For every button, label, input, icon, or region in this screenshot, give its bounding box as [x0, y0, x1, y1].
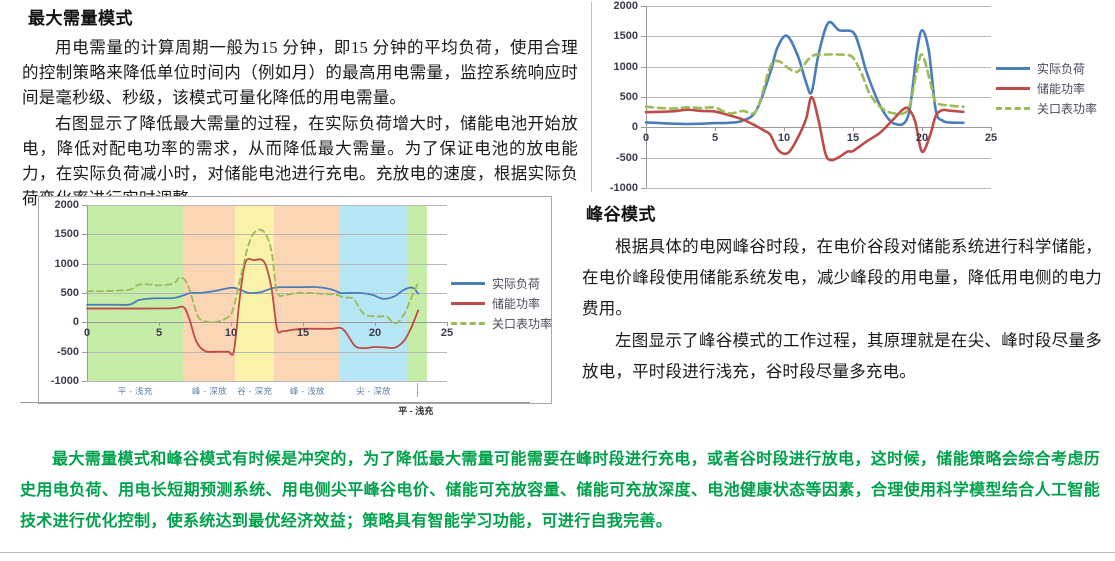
x-axis-tick-label: 20 [360, 327, 390, 339]
x-tick-mark [87, 322, 88, 326]
peak-valley-plot-area [87, 205, 447, 381]
y-tick-mark [82, 205, 87, 206]
legend-item-1: 储能功率 [996, 78, 1097, 98]
y-axis-tick-label: -1000 [590, 182, 638, 194]
y-axis-tick-label: 1500 [590, 30, 638, 42]
legend-swatch-dashed-icon [996, 107, 1030, 110]
y-tick-mark [82, 234, 87, 235]
peak-valley-section: 峰谷模式 根据具体的电网峰谷时段，在电价谷段对储能系统进行科学储能，在电价峰段使… [582, 200, 1102, 388]
y-tick-mark [641, 67, 646, 68]
page-bottom-rule [0, 552, 1115, 553]
legend-item-0: 实际负荷 [996, 58, 1097, 78]
band-label-3: 峰 - 浅放 [290, 385, 325, 397]
x-axis-tick-label: 5 [700, 132, 730, 144]
legend-label: 储能功率 [1037, 80, 1085, 97]
x-axis-tick-label: 10 [216, 327, 246, 339]
y-axis-tick-label: 2000 [31, 199, 79, 211]
x-tick-mark [159, 322, 160, 326]
y-tick-mark [82, 352, 87, 353]
y-axis-tick-label: -1000 [31, 375, 79, 387]
legend-label: 实际负荷 [1037, 60, 1085, 77]
y-axis-tick-label: 2000 [590, 0, 638, 12]
legend-item-0: 实际负荷 [451, 273, 552, 293]
max-demand-chart: 实际负荷储能功率关口表功率 2000150010005000-500-10000… [583, 0, 1115, 196]
max-demand-title: 最大需量模式 [28, 4, 578, 29]
y-axis-tick-label: 1000 [590, 61, 638, 73]
y-axis-tick-label: 1500 [31, 228, 79, 240]
legend-label: 实际负荷 [492, 275, 540, 292]
max-demand-section: 最大需量模式 用电需量的计算周期一般为15 分钟，即15 分钟的平均负荷，使用合… [22, 4, 578, 212]
x-tick-mark [991, 127, 992, 131]
legend-swatch-solid-icon [996, 87, 1030, 90]
legend-item-2: 关口表功率 [996, 98, 1097, 118]
band-label-0: 平 - 浅充 [118, 385, 153, 397]
chart-caption-separator [20, 402, 530, 403]
legend-item-1: 储能功率 [451, 293, 552, 313]
band-label-1: 峰 - 深放 [192, 385, 227, 397]
series-line-1 [87, 259, 418, 355]
y-tick-mark [82, 293, 87, 294]
series-canvas [646, 6, 991, 188]
x-tick-mark [922, 127, 923, 131]
series-canvas [87, 205, 447, 381]
x-axis-tick-label: 0 [631, 132, 661, 144]
y-axis-tick-label: 500 [590, 91, 638, 103]
y-tick-mark [641, 188, 646, 189]
x-tick-mark [853, 127, 854, 131]
peak-valley-title: 峰谷模式 [586, 200, 1102, 225]
x-axis-tick-label: 15 [288, 327, 318, 339]
legend-swatch-solid-icon [451, 282, 485, 285]
peak-valley-chart: 实际负荷储能功率关口表功率 2000150010005000-500-10000… [38, 196, 552, 404]
y-tick-mark [641, 97, 646, 98]
band-label-4: 尖 - 深放 [356, 385, 391, 397]
x-tick-mark [646, 127, 647, 131]
legend-swatch-dashed-icon [451, 322, 485, 325]
gridline [646, 188, 991, 189]
y-tick-mark [641, 6, 646, 7]
legend-label: 关口表功率 [492, 315, 552, 332]
legend-item-2: 关口表功率 [451, 313, 552, 333]
y-axis-tick-label: 1000 [31, 258, 79, 270]
x-tick-mark [447, 322, 448, 326]
x-tick-mark [303, 322, 304, 326]
legend-label: 储能功率 [492, 295, 540, 312]
peak-valley-paragraph-2: 左图显示了峰谷模式的工作过程，其原理就是在尖、峰时段尽量多放电，平时段进行浅充，… [582, 325, 1102, 387]
gridline [87, 381, 447, 382]
y-axis-tick-label: -500 [590, 152, 638, 164]
peak-valley-callout-label: 平 - 浅充 [398, 404, 433, 417]
y-tick-mark [641, 158, 646, 159]
y-tick-mark [641, 36, 646, 37]
x-axis-tick-label: 5 [144, 327, 174, 339]
series-line-0 [87, 287, 418, 305]
x-tick-mark [715, 127, 716, 131]
y-tick-mark [82, 264, 87, 265]
peak-valley-paragraph-1: 根据具体的电网峰谷时段，在电价谷段对储能系统进行科学储能，在电价峰段使用储能系统… [582, 231, 1102, 324]
legend-label: 关口表功率 [1037, 100, 1097, 117]
x-axis-tick-label: 25 [976, 132, 1006, 144]
band-label-2: 谷 - 深充 [237, 385, 272, 397]
x-tick-mark [784, 127, 785, 131]
x-tick-mark [375, 322, 376, 326]
peak-valley-legend: 实际负荷储能功率关口表功率 [451, 273, 552, 333]
legend-swatch-solid-icon [996, 67, 1030, 70]
x-axis-tick-label: 10 [769, 132, 799, 144]
max-demand-plot-area [646, 6, 991, 188]
x-tick-mark [231, 322, 232, 326]
max-demand-paragraph-1: 用电需量的计算周期一般为15 分钟，即15 分钟的平均负荷，使用合理的控制策略来… [22, 35, 578, 110]
x-axis-tick-label: 15 [838, 132, 868, 144]
x-axis-tick-label: 25 [432, 327, 462, 339]
legend-swatch-solid-icon [451, 302, 485, 305]
document-page: 最大需量模式 用电需量的计算周期一般为15 分钟，即15 分钟的平均负荷，使用合… [0, 0, 1115, 561]
callout-leader-line [417, 383, 418, 397]
max-demand-legend: 实际负荷储能功率关口表功率 [996, 58, 1097, 118]
y-axis-tick-label: 500 [31, 287, 79, 299]
x-axis-tick-label: 0 [72, 327, 102, 339]
x-axis-tick-label: 20 [907, 132, 937, 144]
y-axis-tick-label: -500 [31, 346, 79, 358]
summary-paragraph: 最大需量模式和峰谷模式有时候是冲突的，为了降低最大需量可能需要在峰时段进行充电，… [20, 444, 1100, 537]
y-tick-mark [82, 381, 87, 382]
